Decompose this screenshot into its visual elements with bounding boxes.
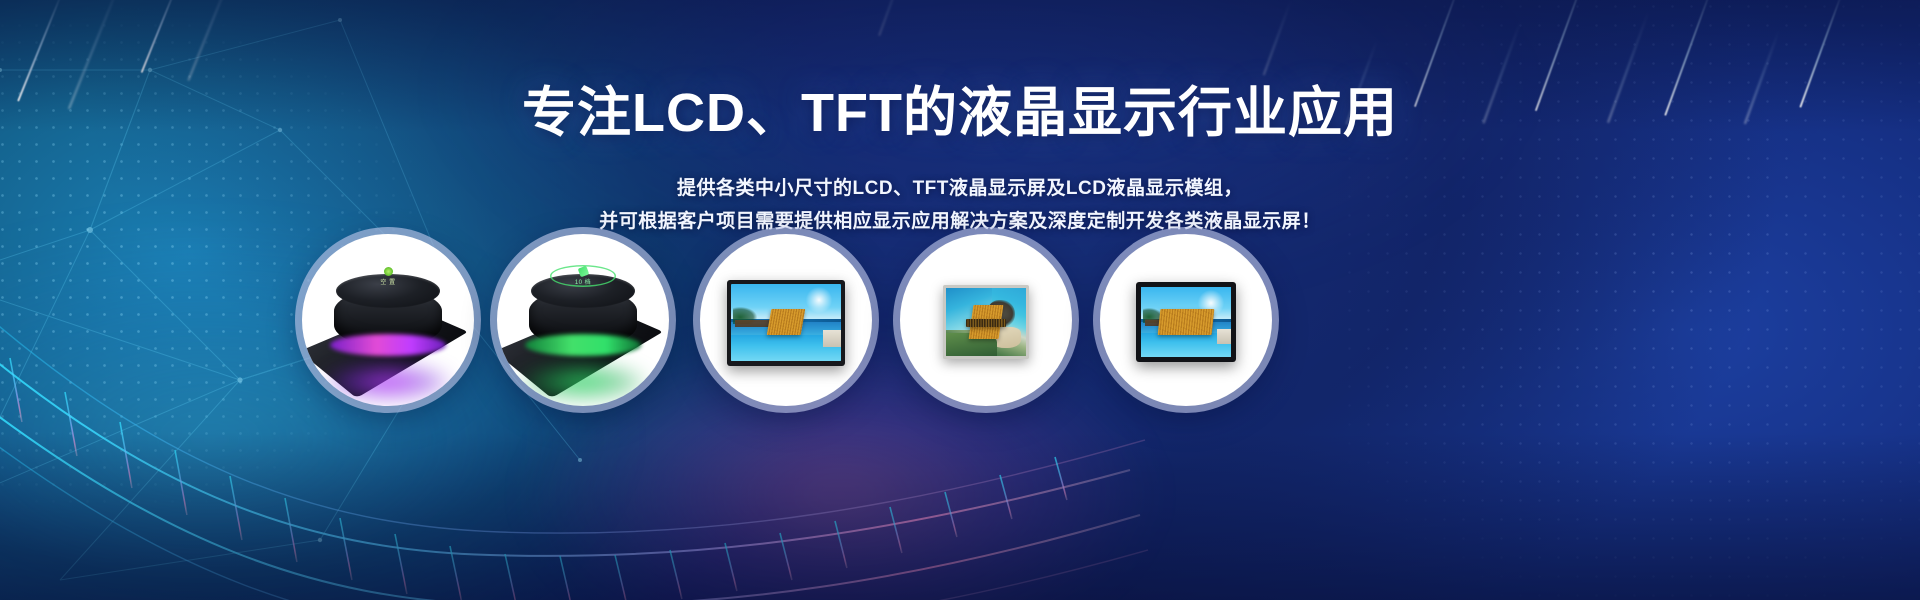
speaker-led-ring-green: [525, 334, 641, 356]
product-circle-smart-speaker-green[interactable]: 10 档: [497, 234, 669, 406]
product-circle-tft-black-bezel[interactable]: [1100, 234, 1272, 406]
product-circle-row: 空 置 10 档: [0, 234, 1920, 414]
hero-banner: 专注LCD、TFT的液晶显示行业应用 提供各类中小尺寸的LCD、TFT液晶显示屏…: [0, 0, 1920, 600]
product-circle-tft-widescreen[interactable]: [700, 234, 872, 406]
subtitle-line-1: 提供各类中小尺寸的LCD、TFT液晶显示屏及LCD液晶显示模组，: [0, 173, 1920, 200]
speaker-body-green: 10 档: [529, 289, 637, 347]
product-circle-smart-speaker-purple[interactable]: 空 置: [302, 234, 474, 406]
subtitle-line-2: 并可根据客户项目需要提供相应显示应用解决方案及深度定制开发各类液晶显示屏！: [0, 206, 1920, 233]
speaker-led-glow-green: [517, 362, 649, 402]
page-title: 专注LCD、TFT的液晶显示行业应用: [0, 68, 1920, 147]
speaker-display-purple: 空 置: [355, 265, 421, 287]
panel-fpc-cable: [1158, 309, 1215, 335]
speaker-status-led: [384, 267, 393, 276]
speaker-body-purple: 空 置: [334, 289, 442, 347]
speaker-led-glow-purple: [322, 362, 454, 402]
panel-fpc-cable: [767, 309, 806, 335]
product-circle-tft-square[interactable]: [900, 234, 1072, 406]
speaker-display-green: 10 档: [550, 265, 616, 287]
speaker-screen-label: 空 置: [380, 277, 395, 286]
speaker-led-ring-purple: [330, 334, 446, 356]
speaker-status-led: [577, 265, 589, 277]
speaker-screen-label: 10 档: [575, 277, 591, 286]
panel-fpc-connector: [966, 319, 1006, 327]
